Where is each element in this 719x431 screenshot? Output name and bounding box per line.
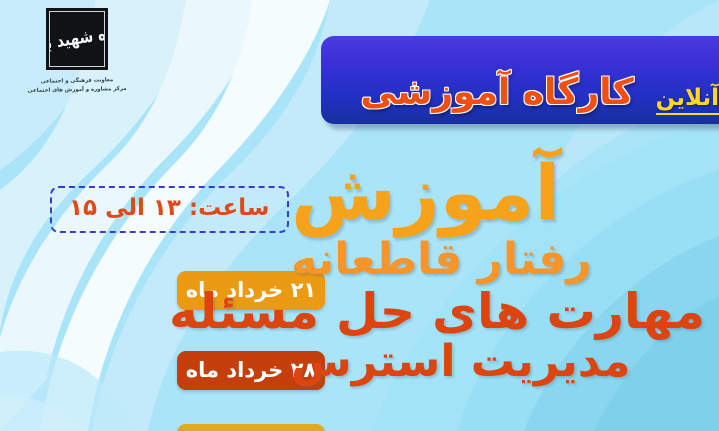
title-banner: آنلاین کارگاه آموزشی — [321, 36, 719, 124]
workshop-poster: دانشگاه شهید بهشتی معاونت فرهنگی و اجتما… — [0, 0, 719, 431]
headline-1: آموزش — [285, 155, 705, 231]
date-badge-3: ۴ تیر ماه — [177, 424, 325, 431]
headline-4: مدیریت استرس — [285, 340, 705, 384]
department-line-2: مرکز مشاوره و آموزش های اجتماعی — [18, 85, 136, 97]
banner-main-label: کارگاه آموزشی — [361, 75, 634, 115]
university-logo: دانشگاه شهید بهشتی معاونت فرهنگی و اجتما… — [18, 8, 136, 96]
headline-3: مهارت های حل مسئله — [285, 287, 705, 336]
banner-online-label: آنلاین — [656, 87, 719, 115]
time-label: ساعت: ۱۳ الی ۱۵ — [69, 197, 270, 220]
headline-2: رفتار قاطعانه — [285, 238, 705, 282]
university-department-text: معاونت فرهنگی و اجتماعی مرکز مشاوره و آم… — [18, 76, 136, 97]
time-box: ساعت: ۱۳ الی ۱۵ — [50, 186, 289, 233]
university-seal-icon: دانشگاه شهید بهشتی — [46, 8, 108, 70]
university-seal-text: دانشگاه شهید بهشتی — [49, 18, 105, 59]
headline-stack: آموزش رفتار قاطعانه مهارت های حل مسئله م… — [285, 155, 705, 384]
